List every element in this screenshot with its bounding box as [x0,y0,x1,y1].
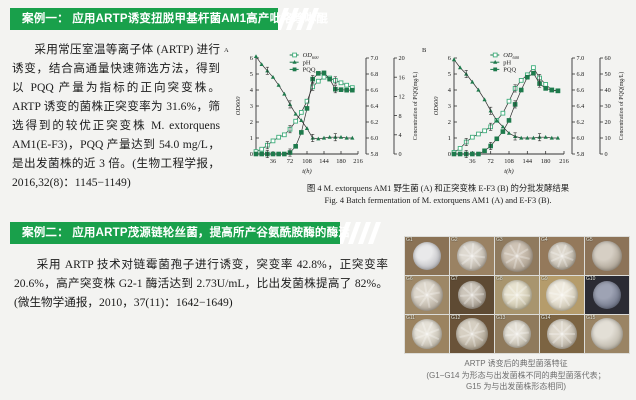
svg-text:12: 12 [399,94,405,101]
colony-photo-cell[interactable]: G2 [450,237,494,275]
svg-text:3: 3 [250,103,253,110]
colony-grid-caption-line3: G15 为与出发菌株形态相同) [396,381,636,393]
colony-label: G15 [586,315,595,321]
svg-text:6.4: 6.4 [577,103,585,110]
colony-label: G6 [406,276,413,282]
svg-text:PQQ: PQQ [303,67,316,74]
colony-photo-cell[interactable]: G15 [585,315,629,353]
colony-photo-cell[interactable]: G14 [540,315,584,353]
figure-caption-cn: 图 4 M. extorquens AM1 野生菌 (A) 和正突变株 E-F3… [246,183,630,195]
svg-text:8: 8 [399,113,402,120]
svg-text:6: 6 [448,55,451,62]
svg-text:6.0: 6.0 [371,135,379,142]
svg-text:16: 16 [399,74,405,81]
svg-text:7.0: 7.0 [577,55,585,62]
svg-text:0: 0 [448,151,451,158]
svg-text:A: A [224,47,229,54]
svg-text:pH: pH [503,59,511,66]
svg-text:0: 0 [399,151,402,158]
svg-text:144: 144 [319,158,329,165]
svg-text:OD600: OD600 [433,96,440,116]
colony-photo-grid: G1G2G3G4G5G6G7G8G9G10G11G12G13G14G15 [404,236,630,354]
colony-grid-caption-line2: (G1−G14 为形态与出发菌株不同的典型菌落代表； [396,370,636,382]
case-one-banner: 案例一： 应用ARTP诱变扭脱甲基杆菌AM1高产吡咯喹啉醌 [10,8,278,30]
chart-panel-b: B0123456OD6003672108144180216t(h)5.86.06… [420,42,628,190]
svg-text:6.4: 6.4 [371,103,379,110]
svg-text:t(h): t(h) [504,168,514,175]
svg-text:6.2: 6.2 [577,119,585,126]
svg-text:36: 36 [469,158,475,165]
colony-label: G4 [541,237,548,243]
banner-stripes-icon [278,8,324,30]
svg-text:1: 1 [448,135,451,142]
svg-text:60: 60 [605,55,611,62]
colony-photo-cell[interactable]: G4 [540,237,584,275]
svg-text:PQQ: PQQ [503,67,516,74]
colony-disc [413,242,441,270]
svg-text:10: 10 [605,135,611,142]
svg-text:B: B [422,47,427,54]
chart-b-svg: B0123456OD6003672108144180216t(h)5.86.06… [420,42,628,190]
colony-photo-cell[interactable]: G3 [495,237,539,275]
case-two-paragraph: 采用 ARTP 技术对链霉菌孢子进行诱变，突变率 42.8%，正突变率 20.6… [14,255,388,312]
colony-photo-cell[interactable]: G8 [495,276,539,314]
svg-text:pH: pH [303,59,311,66]
colony-label: G14 [541,315,550,321]
svg-text:1: 1 [250,135,253,142]
svg-text:216: 216 [353,158,363,165]
svg-text:144: 144 [523,158,533,165]
figure-caption: 图 4 M. extorquens AM1 野生菌 (A) 和正突变株 E-F3… [246,183,630,206]
svg-text:4: 4 [250,87,254,94]
svg-text:4: 4 [399,132,402,139]
colony-label: G13 [496,315,505,321]
svg-text:40: 40 [605,87,611,94]
svg-text:5: 5 [250,71,253,78]
svg-text:5: 5 [448,71,451,78]
svg-text:Concentration of PQQ(mg/L): Concentration of PQQ(mg/L) [412,72,419,141]
svg-text:5.8: 5.8 [371,151,379,158]
svg-text:216: 216 [559,158,569,165]
banner-stripes-icon [340,222,386,244]
colony-disc [592,241,622,271]
colony-photo-cell[interactable]: G9 [540,276,584,314]
svg-text:72: 72 [287,158,293,165]
svg-text:6.6: 6.6 [577,87,585,94]
svg-text:36: 36 [270,158,276,165]
svg-text:180: 180 [336,158,346,165]
svg-text:20: 20 [605,119,611,126]
colony-label: G9 [541,276,548,282]
svg-text:4: 4 [448,87,452,94]
case-two-banner: 案例二： 应用ARTP茂源链轮丝菌，提高所产谷氨酰胺酶的酶活 [10,222,340,244]
colony-label: G5 [586,237,593,243]
colony-disc [593,281,621,309]
svg-text:6.6: 6.6 [371,87,379,94]
svg-text:6.8: 6.8 [577,71,585,78]
colony-label: G2 [451,237,458,243]
svg-text:6: 6 [250,55,253,62]
slide-root: 案例一： 应用ARTP诱变扭脱甲基杆菌AM1高产吡咯喹啉醌 采用常压室温等离子体… [0,0,636,400]
svg-text:108: 108 [504,158,514,165]
svg-text:180: 180 [541,158,551,165]
case-two-paragraph-text: 采用 ARTP 技术对链霉菌孢子进行诱变，突变率 42.8%，正突变率 20.6… [14,258,388,309]
colony-grid-caption-line1: ARTP 诱变后的典型菌落特征 [396,358,636,370]
colony-photo-cell[interactable]: G11 [405,315,449,353]
colony-photo-cell[interactable]: G6 [405,276,449,314]
colony-label: G11 [406,315,415,321]
colony-label: G8 [496,276,503,282]
svg-text:6.8: 6.8 [371,71,379,78]
colony-texture [561,334,563,347]
svg-text:50: 50 [605,71,611,78]
svg-text:Concentration of PQQ(mg/L): Concentration of PQQ(mg/L) [618,72,625,141]
colony-photo-cell[interactable]: G10 [585,276,629,314]
colony-grid-caption: ARTP 诱变后的典型菌落特征 (G1−G14 为形态与出发菌株不同的典型菌落代… [396,358,636,393]
svg-text:6.2: 6.2 [371,119,379,126]
svg-text:OD600: OD600 [235,96,242,116]
svg-text:6.0: 6.0 [577,135,585,142]
colony-label: G12 [451,315,460,321]
colony-photo-cell[interactable]: G12 [450,315,494,353]
case-one-paragraph-text: 采用常压室温等离子体 (ARTP) 进行诱变，结合高通量快速筛选方法，得到以 P… [12,43,220,189]
svg-text:72: 72 [487,158,493,165]
colony-label: G7 [451,276,458,282]
case-two-banner-label: 案例二： 应用ARTP茂源链轮丝菌，提高所产谷氨酰胺酶的酶活 [22,222,350,244]
svg-text:2: 2 [448,119,451,126]
svg-text:3: 3 [448,103,451,110]
case-one-paragraph: 采用常压室温等离子体 (ARTP) 进行诱变，结合高通量快速筛选方法，得到以 P… [12,40,220,192]
svg-text:5.8: 5.8 [577,151,585,158]
svg-text:30: 30 [605,103,611,110]
colony-photo-cell[interactable]: G13 [495,315,539,353]
colony-label: G10 [586,276,595,282]
svg-text:108: 108 [302,158,312,165]
svg-text:20: 20 [399,55,405,62]
svg-text:2: 2 [250,119,253,126]
svg-text:0: 0 [605,151,608,158]
colony-disc [591,318,623,350]
colony-photo-cell[interactable]: G5 [585,237,629,275]
figure-caption-en: Fig. 4 Batch fermentation of M. extorque… [246,195,630,207]
colony-photo-cell[interactable]: G1 [405,237,449,275]
svg-text:t(h): t(h) [302,168,312,175]
chart-a-svg: A0123456OD6003672108144180216t(h)5.86.06… [222,42,422,190]
colony-label: G3 [496,237,503,243]
svg-text:7.0: 7.0 [371,55,379,62]
colony-photo-cell[interactable]: G7 [450,276,494,314]
svg-text:0: 0 [250,151,253,158]
colony-label: G1 [406,237,413,243]
chart-panel-a: A0123456OD6003672108144180216t(h)5.86.06… [222,42,422,190]
